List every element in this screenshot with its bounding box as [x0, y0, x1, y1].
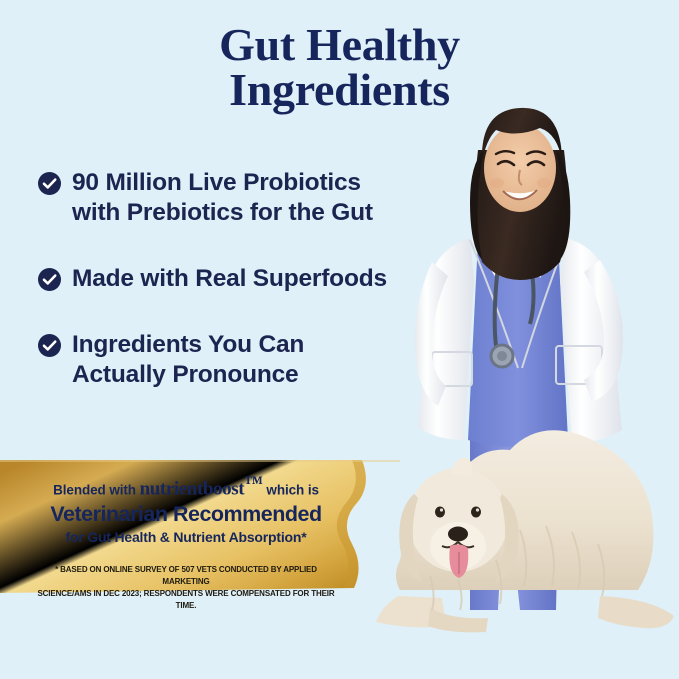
banner-line1-suffix: which is: [263, 483, 319, 498]
list-item-label: Made with Real Superfoods: [72, 264, 387, 294]
dog-photo: [376, 430, 674, 632]
vet-photo: [415, 108, 623, 610]
benefits-list: 90 Million Live Probiotics with Prebioti…: [38, 168, 438, 390]
veterinarian-recommended-banner: Blended with nutrientboost™ which is Vet…: [0, 460, 400, 600]
brand-name: nutrientboost: [140, 479, 245, 500]
banner-text: Blended with nutrientboost™ which is Vet…: [0, 460, 372, 611]
banner-line-1: Blended with nutrientboost™ which is: [0, 473, 372, 501]
promo-image: Gut Healthy Ingredients 90 Million Live …: [0, 0, 679, 679]
list-item: Ingredients You Can Actually Pronounce: [38, 330, 438, 390]
banner-line-3: for Gut Health & Nutrient Absorption*: [0, 529, 372, 545]
check-circle-icon: [38, 172, 61, 195]
banner-line-2: Veterinarian Recommended: [0, 502, 372, 527]
trademark-symbol: ™: [244, 473, 263, 494]
check-circle-icon: [38, 268, 61, 291]
page-title: Gut Healthy Ingredients: [0, 22, 679, 112]
list-item-label: 90 Million Live Probiotics with Prebioti…: [72, 168, 373, 228]
check-circle-icon: [38, 334, 61, 357]
title-line-2: Ingredients: [0, 67, 679, 112]
banner-fine-print: * BASED ON ONLINE SURVEY OF 507 VETS CON…: [13, 563, 359, 611]
title-line-1: Gut Healthy: [0, 22, 679, 67]
list-item: Made with Real Superfoods: [38, 264, 438, 294]
list-item-label: Ingredients You Can Actually Pronounce: [72, 330, 304, 390]
list-item: 90 Million Live Probiotics with Prebioti…: [38, 168, 438, 228]
banner-line1-prefix: Blended with: [53, 483, 139, 498]
